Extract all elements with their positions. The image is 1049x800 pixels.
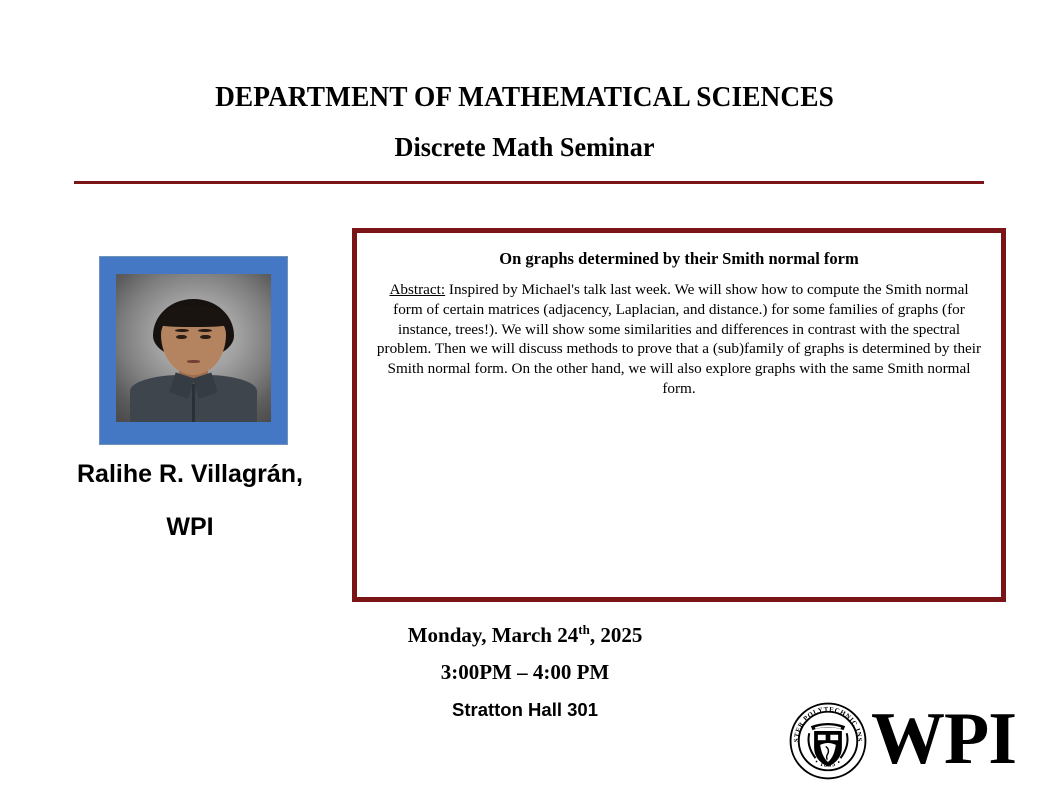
speaker-photo [116, 274, 271, 422]
event-date-ordinal: th [578, 622, 590, 637]
event-date: Monday, March 24th, 2025 [340, 622, 710, 648]
abstract-text: Inspired by Michael's talk last week. We… [377, 281, 981, 397]
poster-header: DEPARTMENT OF MATHEMATICAL SCIENCES Disc… [0, 82, 1049, 163]
abstract-label: Abstract: [389, 281, 445, 298]
event-location: Stratton Hall 301 [340, 699, 710, 721]
wpi-seal-icon: WORCESTER POLYTECHNIC INSTITUTE • 1865 • [789, 702, 867, 780]
abstract-body: Abstract: Inspired by Michael's talk las… [369, 280, 989, 399]
wpi-wordmark: WPI [871, 696, 1016, 782]
department-title: DEPARTMENT OF MATHEMATICAL SCIENCES [21, 82, 1028, 115]
photo-eyebrow-left [175, 329, 189, 332]
speaker-affiliation: WPI [0, 515, 380, 540]
photo-mouth [187, 360, 201, 363]
photo-eyebrow-right [198, 329, 212, 332]
talk-title: On graphs determined by their Smith norm… [369, 249, 989, 269]
photo-shirt-placket [192, 384, 194, 422]
abstract-box: On graphs determined by their Smith norm… [352, 228, 1006, 602]
wpi-logo: WORCESTER POLYTECHNIC INSTITUTE • 1865 •… [789, 698, 1021, 784]
speaker-photo-frame [99, 256, 288, 445]
speaker-block: Ralihe R. Villagrán, WPI [0, 462, 380, 540]
event-date-prefix: Monday, March 24 [408, 623, 579, 647]
event-details: Monday, March 24th, 2025 3:00PM – 4:00 P… [340, 622, 710, 721]
event-date-suffix: , 2025 [590, 623, 643, 647]
event-time: 3:00PM – 4:00 PM [340, 660, 710, 685]
header-divider-rule [74, 181, 984, 184]
speaker-name: Ralihe R. Villagrán, [0, 462, 380, 487]
seminar-title: Discrete Math Seminar [16, 132, 1034, 163]
